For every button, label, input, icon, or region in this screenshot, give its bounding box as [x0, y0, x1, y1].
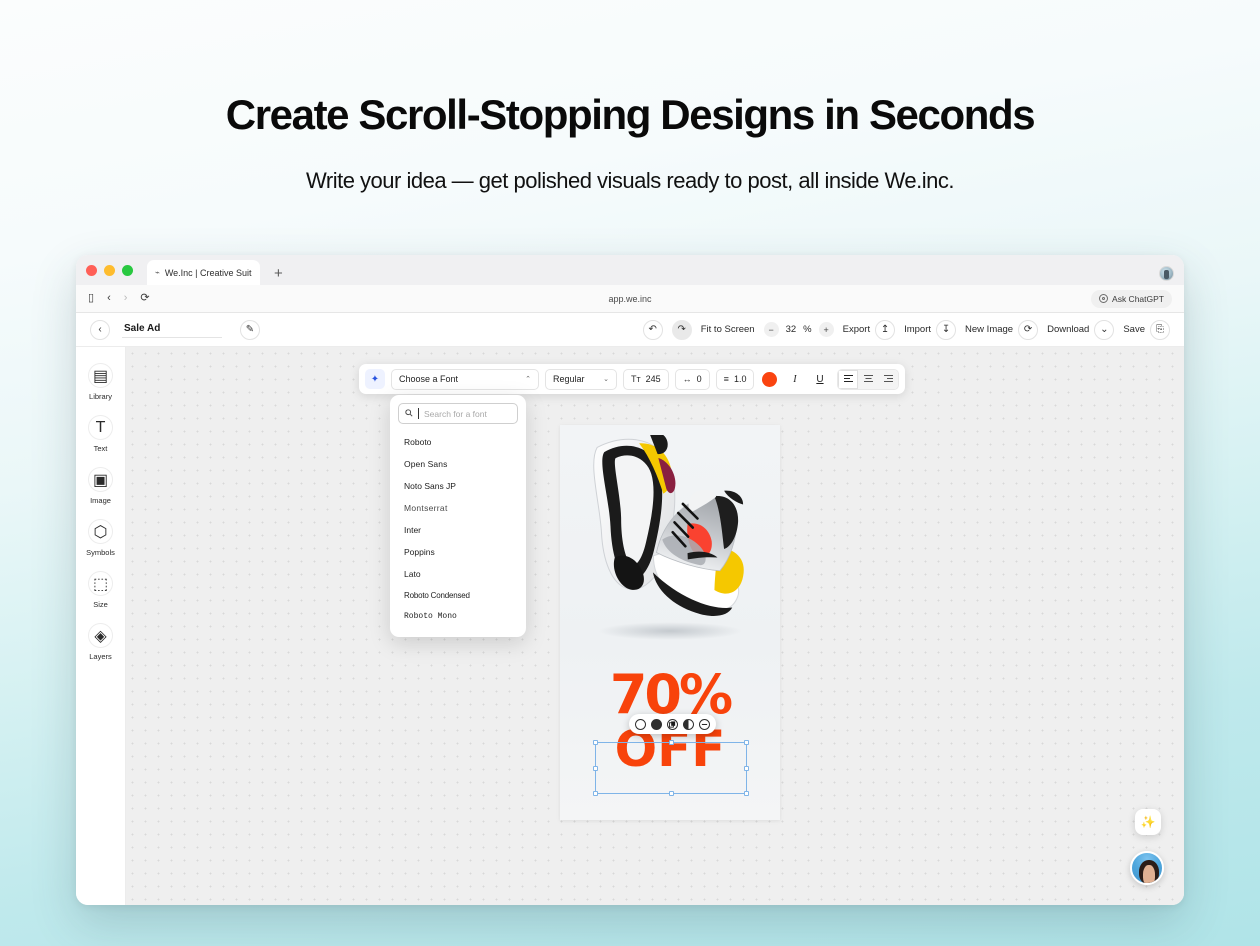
export-button[interactable]: Export ↥ — [843, 320, 895, 340]
new-tab-button[interactable]: + — [274, 266, 283, 281]
new-image-button[interactable]: New Image ⟳ — [965, 320, 1038, 340]
chevron-up-icon: ⌃ — [525, 375, 531, 383]
hero-section: Create Scroll-Stopping Designs in Second… — [0, 0, 1260, 194]
text-color-swatch[interactable] — [762, 372, 777, 387]
search-icon — [405, 409, 413, 419]
document-name-input[interactable]: Sale Ad — [122, 321, 222, 338]
image-icon: ▣ — [88, 467, 113, 492]
align-left-icon — [844, 375, 853, 383]
zoom-value: 32 — [786, 324, 797, 335]
maximize-window-button[interactable] — [122, 265, 133, 276]
font-option-noto-sans-jp[interactable]: Noto Sans JP — [398, 475, 518, 497]
download-button[interactable]: Download ⌄ — [1047, 320, 1114, 340]
align-left-button[interactable] — [838, 370, 858, 389]
font-option-roboto-mono[interactable]: Roboto Mono — [398, 606, 518, 627]
sidebar-item-label: Library — [89, 392, 112, 401]
page-title: Create Scroll-Stopping Designs in Second… — [0, 92, 1260, 138]
chevron-down-icon[interactable]: ⌄ — [1094, 320, 1114, 340]
sidebar-item-size[interactable]: ⬚ Size — [88, 571, 113, 609]
download-label: Download — [1047, 324, 1089, 335]
library-icon: ▤ — [88, 363, 113, 388]
sidebar-item-layers[interactable]: ◈ Layers — [88, 623, 113, 661]
font-option-inter[interactable]: Inter — [398, 519, 518, 541]
font-option-roboto-condensed[interactable]: Roboto Condensed — [398, 585, 518, 606]
browser-url-bar: ▯ ‹ › ⟳ app.we.inc Ask ChatGPT — [76, 285, 1184, 313]
font-option-roboto[interactable]: Roboto — [398, 431, 518, 453]
align-center-icon — [864, 375, 873, 383]
window-controls — [86, 255, 147, 285]
forward-icon[interactable]: › — [124, 293, 128, 304]
export-icon[interactable]: ↥ — [875, 320, 895, 340]
zoom-in-button[interactable]: + — [819, 322, 834, 337]
size-icon: ⬚ — [88, 571, 113, 596]
sidebar-item-label: Symbols — [86, 548, 115, 557]
zoom-out-button[interactable]: − — [764, 322, 779, 337]
app-back-button[interactable]: ‹ — [90, 320, 110, 340]
browser-profile-avatar[interactable] — [1159, 266, 1174, 281]
page-subtitle: Write your idea — get polished visuals r… — [0, 168, 1260, 194]
browser-nav-icons: ▯ ‹ › ⟳ — [88, 293, 150, 304]
export-label: Export — [843, 324, 870, 335]
text-icon: T — [88, 415, 113, 440]
text-align-group — [837, 369, 899, 390]
font-size-input[interactable]: Tт 245 — [623, 369, 669, 390]
design-canvas[interactable]: ✦ Choose a Font ⌃ Regular ⌄ Tт 245 ↔ 0 — [126, 347, 1184, 905]
sidebar-item-symbols[interactable]: ⬡ Symbols — [86, 519, 115, 557]
ask-chatgpt-button[interactable]: Ask ChatGPT — [1091, 290, 1172, 308]
undo-button[interactable]: ↶ — [643, 320, 663, 340]
import-button[interactable]: Import ↧ — [904, 320, 956, 340]
minimize-window-button[interactable] — [104, 265, 115, 276]
element-context-toolbar — [629, 714, 716, 734]
duplicate-icon[interactable] — [667, 719, 678, 730]
save-icon[interactable]: ⎘ — [1150, 320, 1170, 340]
left-sidebar: ▤ Library T Text ▣ Image ⬡ Symbols ⬚ Siz… — [76, 347, 126, 905]
sidebar-item-label: Text — [94, 444, 108, 453]
font-option-open-sans[interactable]: Open Sans — [398, 453, 518, 475]
font-family-value: Choose a Font — [399, 374, 458, 384]
line-height-input[interactable]: ≡ 1.0 — [716, 369, 755, 390]
underline-button[interactable]: U — [810, 370, 829, 389]
app-body: ▤ Library T Text ▣ Image ⬡ Symbols ⬚ Siz… — [76, 347, 1184, 905]
sidebar-item-library[interactable]: ▤ Library — [88, 363, 113, 401]
text-format-toolbar: ✦ Choose a Font ⌃ Regular ⌄ Tт 245 ↔ 0 — [359, 364, 905, 394]
import-icon[interactable]: ↧ — [936, 320, 956, 340]
edit-name-icon[interactable]: ✎ — [240, 320, 260, 340]
sneakers-illustration — [560, 435, 780, 645]
font-weight-value: Regular — [553, 374, 585, 384]
letter-spacing-input[interactable]: ↔ 0 — [675, 369, 710, 390]
align-right-button[interactable] — [878, 370, 898, 389]
sidebar-item-label: Layers — [89, 652, 112, 661]
font-search-placeholder: Search for a font — [424, 409, 487, 419]
sidebar-item-text[interactable]: T Text — [88, 415, 113, 453]
import-label: Import — [904, 324, 931, 335]
fit-to-screen-button[interactable]: Fit to Screen — [701, 324, 755, 335]
symbols-icon: ⬡ — [88, 519, 113, 544]
align-right-icon — [884, 375, 893, 383]
browser-window: ⌁ We.Inc | Creative Suit + ▯ ‹ › ⟳ app.w… — [76, 255, 1184, 905]
new-image-label: New Image — [965, 324, 1013, 335]
sidebar-item-image[interactable]: ▣ Image — [88, 467, 113, 505]
zoom-control: − 32 % + — [764, 322, 834, 337]
app-toolbar: ‹ Sale Ad ✎ ↶ ↷ Fit to Screen − 32 % + E… — [76, 313, 1184, 347]
align-center-button[interactable] — [858, 370, 878, 389]
contrast-icon[interactable] — [683, 719, 694, 730]
font-option-lato[interactable]: Lato — [398, 563, 518, 585]
font-option-poppins[interactable]: Poppins — [398, 541, 518, 563]
font-size-value: 245 — [646, 374, 661, 384]
url-text: app.we.inc — [76, 294, 1184, 304]
line-height-value: 1.0 — [734, 374, 747, 384]
back-icon[interactable]: ‹ — [107, 293, 111, 304]
filter-icon[interactable] — [651, 719, 662, 730]
font-search-input[interactable]: Search for a font — [398, 403, 518, 424]
shoe-product-image[interactable] — [560, 435, 780, 645]
font-family-dropdown: Search for a font Roboto Open Sans Noto … — [390, 395, 526, 637]
letter-spacing-icon: ↔ — [683, 374, 692, 384]
artboard[interactable]: 70% OFF — [560, 425, 780, 820]
sidebar-item-label: Size — [93, 600, 108, 609]
letter-spacing-value: 0 — [697, 374, 702, 384]
font-weight-select[interactable]: Regular ⌄ — [545, 369, 617, 390]
line-height-icon: ≡ — [724, 374, 729, 384]
sidebar-toggle-icon[interactable]: ▯ — [88, 293, 94, 304]
layers-icon: ◈ — [88, 623, 113, 648]
new-image-icon[interactable]: ⟳ — [1018, 320, 1038, 340]
font-option-montserrat[interactable]: Montserrat — [398, 497, 518, 519]
text-cursor — [418, 408, 419, 419]
font-size-icon: Tт — [631, 374, 641, 384]
sidebar-item-label: Image — [90, 496, 111, 505]
chevron-down-icon: ⌄ — [603, 375, 609, 383]
browser-tab[interactable]: ⌁ We.Inc | Creative Suit — [147, 260, 260, 285]
tab-title: We.Inc | Creative Suit — [165, 268, 252, 278]
save-button[interactable]: Save ⎘ — [1123, 320, 1170, 340]
more-icon[interactable] — [699, 719, 710, 730]
italic-button[interactable]: I — [785, 370, 804, 389]
opacity-icon[interactable] — [635, 719, 646, 730]
app-toolbar-actions: ↶ ↷ Fit to Screen − 32 % + Export ↥ Impo… — [643, 320, 1170, 340]
tab-favicon-icon: ⌁ — [155, 268, 160, 277]
save-label: Save — [1123, 324, 1145, 335]
close-window-button[interactable] — [86, 265, 97, 276]
reload-icon[interactable]: ⟳ — [140, 293, 149, 304]
chatgpt-icon — [1099, 294, 1108, 303]
redo-button[interactable]: ↷ — [672, 320, 692, 340]
zoom-unit: % — [803, 324, 811, 335]
user-avatar[interactable] — [1130, 851, 1164, 885]
sparkle-icon[interactable]: ✦ — [365, 369, 385, 389]
ask-chatgpt-label: Ask ChatGPT — [1112, 294, 1164, 304]
assistant-sparkle-icon[interactable]: ✨ — [1135, 809, 1161, 835]
font-family-select[interactable]: Choose a Font ⌃ — [391, 369, 539, 390]
browser-tab-strip: ⌁ We.Inc | Creative Suit + — [76, 255, 1184, 285]
promo-percent-text[interactable]: 70% — [560, 671, 780, 720]
